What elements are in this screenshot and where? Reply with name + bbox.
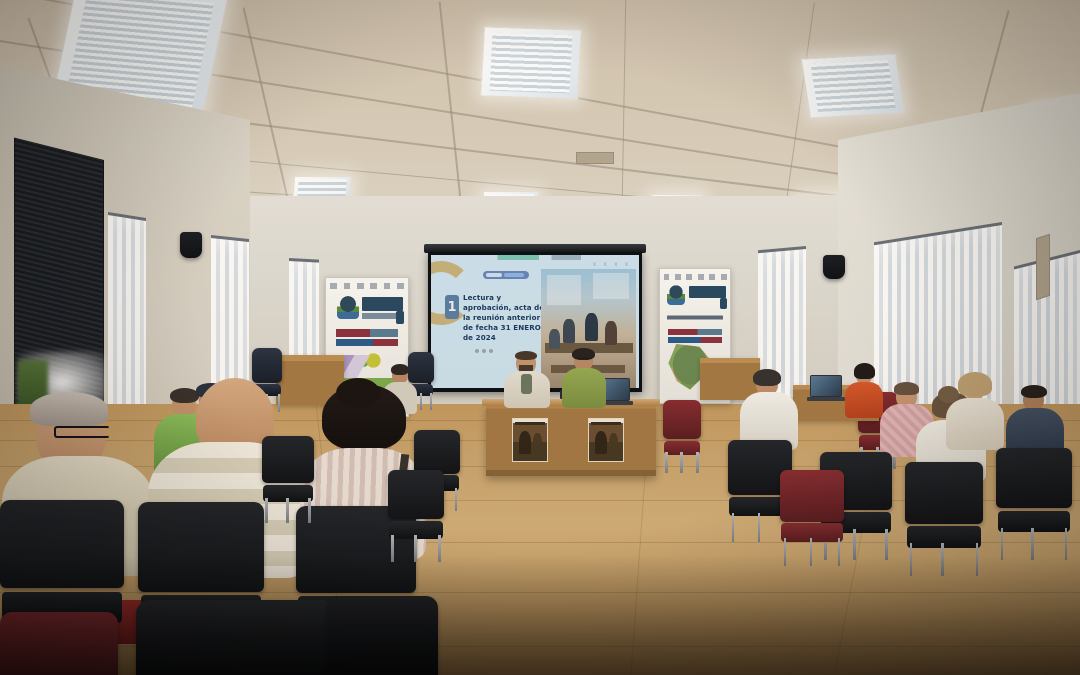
presenter-right bbox=[562, 350, 606, 408]
attendee-hair bbox=[1021, 385, 1047, 398]
chair-mid-left-empty-3 bbox=[388, 470, 444, 558]
chair-foreground-right bbox=[328, 596, 438, 675]
attendee-torso bbox=[946, 398, 1004, 450]
vertical-blinds-left bbox=[108, 212, 146, 423]
attendee-hair bbox=[854, 363, 875, 379]
attendee-hair bbox=[753, 369, 781, 386]
attendee-torso bbox=[845, 382, 883, 418]
table-poster bbox=[588, 418, 624, 462]
slide-text: Lectura y aprobación, acta de la reunión… bbox=[463, 293, 547, 343]
banner-year-badge bbox=[720, 298, 728, 309]
banner-bar-programa bbox=[336, 329, 398, 337]
presenter-right-glasses-icon bbox=[575, 358, 592, 361]
banner-bar-programa bbox=[668, 329, 721, 335]
chair-right-4 bbox=[996, 448, 1072, 556]
banner-sponsor-logos bbox=[664, 273, 727, 281]
glasses-icon bbox=[54, 426, 110, 438]
banner-headline bbox=[362, 297, 403, 311]
banner-script-headline bbox=[667, 309, 723, 328]
slide-top-bar bbox=[431, 255, 639, 260]
presenter-left bbox=[504, 352, 550, 408]
wall-speaker-right bbox=[823, 255, 845, 279]
banner-headline bbox=[689, 286, 725, 298]
ceiling-light-panel bbox=[480, 26, 581, 99]
banner-year-badge bbox=[396, 311, 404, 323]
presenter-left-hair bbox=[515, 351, 537, 360]
attendee-laptop bbox=[810, 375, 842, 397]
banner-subheadline bbox=[362, 313, 398, 320]
wall-speaker-left bbox=[180, 232, 202, 258]
ceiling-air-vent bbox=[576, 152, 614, 164]
estrategia-emblem-icon bbox=[337, 296, 358, 319]
vertical-blinds-left-2 bbox=[211, 235, 249, 399]
attendee-orange-laptop bbox=[845, 366, 883, 418]
slide-toolbar-chip bbox=[483, 271, 529, 279]
presenter-right-torso bbox=[562, 368, 606, 408]
attendee-white-shirt-right bbox=[740, 372, 798, 450]
chair-foreground-red bbox=[0, 612, 118, 675]
attendee-blonde bbox=[946, 378, 1004, 450]
ceiling-light-panel bbox=[801, 53, 906, 118]
wall-vent-right bbox=[1036, 234, 1050, 301]
attendee-hair bbox=[30, 392, 108, 426]
conference-room-photo: 1 Lectura y aprobación, acta de la reuni… bbox=[0, 0, 1080, 675]
chair-right-3 bbox=[905, 462, 983, 572]
estrategia-emblem-icon bbox=[667, 285, 685, 305]
attendee-hair bbox=[894, 382, 919, 395]
slide-number-badge: 1 bbox=[445, 295, 459, 319]
attendee-hair bbox=[391, 364, 409, 375]
attendee-hair-bun bbox=[336, 378, 380, 408]
chair-foreground-center bbox=[136, 600, 336, 675]
attendee-hair bbox=[958, 372, 992, 396]
chair-right-red bbox=[780, 470, 844, 562]
slide-corner-marks: x x x x bbox=[593, 262, 631, 268]
banner-bar-leader bbox=[336, 339, 398, 347]
presenter-table bbox=[486, 404, 656, 476]
slide-progress-dots bbox=[475, 349, 493, 353]
chair-mid-left-empty-2 bbox=[262, 436, 314, 520]
empty-chair-red-right bbox=[663, 400, 701, 470]
table-poster bbox=[512, 418, 548, 462]
banner-sponsor-logos bbox=[330, 282, 404, 290]
presenter-left-inner-shirt bbox=[521, 374, 532, 394]
banner-bar-leader bbox=[668, 337, 721, 343]
